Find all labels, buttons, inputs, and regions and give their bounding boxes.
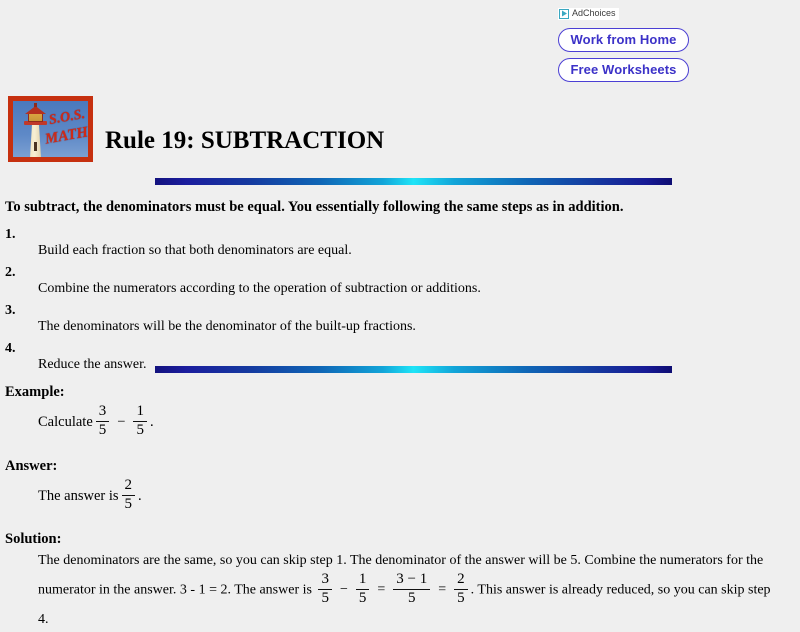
answer-expression: The answer is 2 5 . (38, 479, 142, 514)
page-title: Rule 19: SUBTRACTION (105, 128, 384, 162)
answer-label: Answer: (5, 458, 57, 475)
fraction-denominator: 5 (96, 423, 110, 439)
fraction-numerator: 3 (96, 404, 110, 420)
ad-button-work-from-home[interactable]: Work from Home (558, 28, 689, 52)
fraction-three-fifths: 3 5 (96, 404, 110, 439)
fraction-numerator: 2 (122, 478, 136, 494)
equals-operator: = (377, 578, 385, 602)
minus-operator: − (340, 578, 348, 602)
fraction-numerator: 1 (356, 572, 370, 588)
step-text: Combine the numerators according to the … (38, 281, 705, 303)
step-number: 4. (5, 341, 705, 357)
lighthouse-knob-shape (34, 103, 37, 107)
fraction-numerator: 2 (454, 572, 468, 588)
fraction-denominator: 5 (122, 497, 136, 513)
list-item: 4. Reduce the answer. (5, 341, 705, 379)
divider-gradient-bottom (155, 366, 672, 373)
example-trailing-period: . (150, 414, 154, 431)
fraction-denominator: 5 (318, 591, 332, 607)
step-number: 1. (5, 227, 705, 243)
fraction-two-fifths: 2 5 (454, 572, 468, 607)
divider-gradient-top (155, 178, 672, 185)
steps-list: 1. Build each fraction so that both deno… (5, 227, 705, 379)
adchoices-badge[interactable]: AdChoices (558, 8, 619, 20)
step-number: 3. (5, 303, 705, 319)
fraction-denominator: 5 (356, 591, 370, 607)
answer-lead-text: The answer is (38, 488, 119, 505)
solution-label: Solution: (5, 531, 61, 548)
fraction-numerator: 3 (318, 572, 332, 588)
fraction-one-fifth: 1 5 (356, 572, 370, 607)
list-item: 3. The denominators will be the denomina… (5, 303, 705, 341)
ad-block: AdChoices Work from Home Free Worksheets (558, 4, 758, 82)
fraction-one-fifth: 1 5 (133, 404, 147, 439)
fraction-denominator: 5 (133, 423, 147, 439)
equals-operator: = (438, 578, 446, 602)
fraction-numerator: 1 (133, 404, 147, 420)
lighthouse-door-shape (34, 142, 37, 151)
example-label: Example: (5, 384, 65, 401)
adchoices-triangle-icon[interactable] (559, 9, 569, 19)
fraction-three-fifths: 3 5 (318, 572, 332, 607)
minus-operator: − (117, 414, 125, 431)
solution-paragraph: The denominators are the same, so you ca… (38, 549, 784, 632)
solution-equation: 3 5 − 1 5 = 3 − 1 5 = 2 5 (315, 573, 470, 608)
adchoices-label: AdChoices (572, 9, 616, 18)
step-text: Build each fraction so that both denomin… (38, 243, 705, 265)
step-text: The denominators will be the denominator… (38, 319, 705, 341)
example-expression: Calculate 3 5 − 1 5 . (38, 405, 154, 440)
lighthouse-tower-shape (27, 123, 44, 157)
lighthouse-roof-shape (25, 106, 46, 114)
example-lead-text: Calculate (38, 414, 93, 431)
page-header: S.O.S. MATH Rule 19: SUBTRACTION (8, 96, 384, 162)
sos-math-logo[interactable]: S.O.S. MATH (8, 96, 93, 162)
intro-paragraph: To subtract, the denominators must be eq… (5, 199, 623, 216)
lighthouse-lantern-shape (28, 113, 43, 122)
ad-button-free-worksheets[interactable]: Free Worksheets (558, 58, 689, 82)
step-number: 2. (5, 265, 705, 281)
fraction-two-fifths: 2 5 (122, 478, 136, 513)
fraction-combined-numerator: 3 − 1 5 (393, 572, 430, 607)
fraction-denominator: 5 (405, 591, 419, 607)
logo-image: S.O.S. MATH (13, 101, 88, 157)
fraction-denominator: 5 (454, 591, 468, 607)
fraction-numerator: 3 − 1 (393, 572, 430, 588)
list-item: 2. Combine the numerators according to t… (5, 265, 705, 303)
answer-trailing-period: . (138, 488, 142, 505)
list-item: 1. Build each fraction so that both deno… (5, 227, 705, 265)
